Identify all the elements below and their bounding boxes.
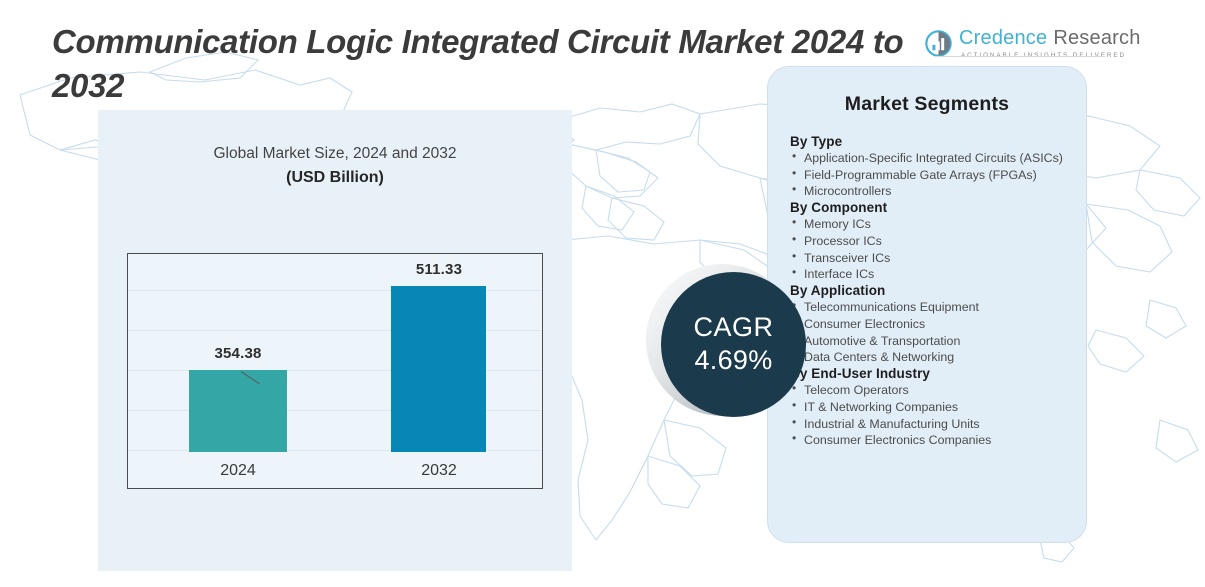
list-item: Microcontrollers xyxy=(790,183,1064,199)
list-item: Consumer Electronics Companies xyxy=(790,432,1064,448)
chart-heading-line2: (USD Billion) xyxy=(98,166,572,191)
bar-label-2032: 2032 xyxy=(381,462,497,480)
segment-group-by-type: By Type Application-Specific Integrated … xyxy=(790,134,1064,199)
cagr-badge: CAGR 4.69% xyxy=(646,264,806,424)
logo-divider xyxy=(935,56,1105,57)
segment-item-list: Telecom Operators IT & Networking Compan… xyxy=(790,382,1064,448)
cagr-label: CAGR xyxy=(693,313,773,343)
segment-item-list: Memory ICs Processor ICs Transceiver ICs… xyxy=(790,216,1064,282)
list-item: Interface ICs xyxy=(790,266,1064,282)
list-item: IT & Networking Companies xyxy=(790,399,1064,415)
list-item: Processor ICs xyxy=(790,233,1064,249)
page-title: Communication Logic Integrated Circuit M… xyxy=(52,20,932,107)
list-item: Consumer Electronics xyxy=(790,316,1064,332)
segment-group-by-end-user-industry: By End-User Industry Telecom Operators I… xyxy=(790,366,1064,448)
segment-group-title: By Type xyxy=(790,134,1064,149)
market-segments-panel: Market Segments By Type Application-Spec… xyxy=(767,66,1087,543)
list-item: Application-Specific Integrated Circuits… xyxy=(790,150,1064,166)
logo-name-primary: Credence xyxy=(959,27,1047,50)
list-item: Telecommunications Equipment xyxy=(790,299,1064,315)
bar-chart-plot: 354.38 511.33 2024 2032 xyxy=(127,253,543,489)
segment-group-title: By End-User Industry xyxy=(790,366,1064,381)
bar-chart-circle-icon xyxy=(925,30,952,57)
list-item: Data Centers & Networking xyxy=(790,349,1064,365)
list-item: Transceiver ICs xyxy=(790,250,1064,266)
logo-name-secondary: Research xyxy=(1053,27,1140,50)
list-item: Field-Programmable Gate Arrays (FPGAs) xyxy=(790,167,1064,183)
cagr-circle: CAGR 4.69% xyxy=(661,272,806,417)
list-item: Memory ICs xyxy=(790,216,1064,232)
segment-group-by-component: By Component Memory ICs Processor ICs Tr… xyxy=(790,200,1064,282)
segment-item-list: Telecommunications Equipment Consumer El… xyxy=(790,299,1064,365)
chart-heading-line1: Global Market Size, 2024 and 2032 xyxy=(98,142,572,166)
segment-group-title: By Component xyxy=(790,200,1064,215)
list-item: Automotive & Transportation xyxy=(790,333,1064,349)
bar-value-2032: 511.33 xyxy=(381,261,497,278)
segment-item-list: Application-Specific Integrated Circuits… xyxy=(790,150,1064,199)
chart-heading: Global Market Size, 2024 and 2032 (USD B… xyxy=(98,142,572,191)
bar-2032 xyxy=(391,286,486,452)
brand-logo: Credence Research Actionable Insights De… xyxy=(925,27,1141,59)
bar-2024 xyxy=(189,370,287,452)
list-item: Telecom Operators xyxy=(790,382,1064,398)
segment-group-by-application: By Application Telecommunications Equipm… xyxy=(790,283,1064,365)
cagr-value: 4.69% xyxy=(694,346,772,376)
bar-label-2024: 2024 xyxy=(180,462,296,480)
bar-value-2024: 354.38 xyxy=(180,345,296,362)
segment-group-title: By Application xyxy=(790,283,1064,298)
list-item: Industrial & Manufacturing Units xyxy=(790,416,1064,432)
